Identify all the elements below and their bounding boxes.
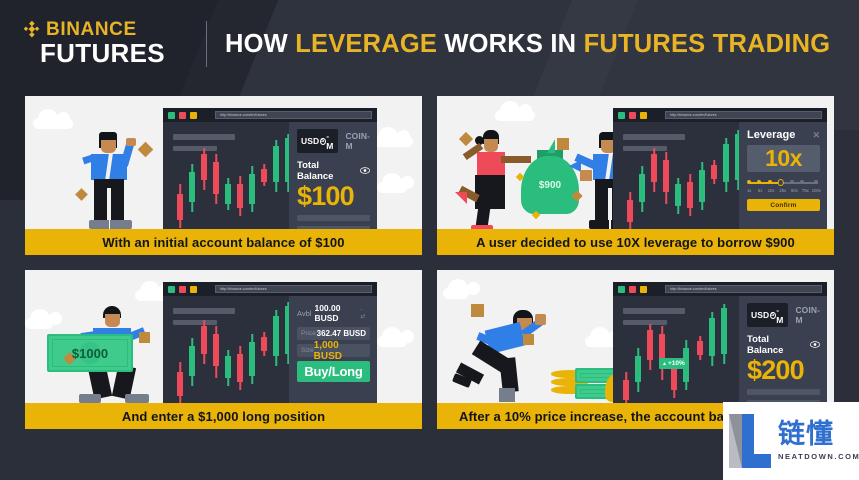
- close-icon[interactable]: ✕: [812, 131, 820, 140]
- slider-tick-label: 50x: [791, 188, 798, 193]
- window-dot-green-icon[interactable]: [168, 286, 175, 293]
- window-dot-green-icon[interactable]: [618, 112, 625, 119]
- margin-mode-tabs: USDS-M COIN-M: [297, 129, 370, 153]
- slider-handle[interactable]: [777, 179, 784, 186]
- transfer-icon[interactable]: - ⇄: [360, 307, 370, 320]
- skeleton-bar: [747, 389, 820, 395]
- window-dot-yellow-icon[interactable]: [190, 112, 197, 119]
- window-dot-red-icon[interactable]: [629, 286, 636, 293]
- margin-mode-tabs: USDS-M COIN-M: [747, 303, 820, 327]
- money-bag-amount: $900: [539, 180, 561, 191]
- tab-usd-m-suffix: -M: [326, 131, 334, 151]
- total-balance-value: $100: [297, 182, 370, 210]
- panel-2: $900: [437, 96, 834, 255]
- confirm-button[interactable]: Confirm: [747, 199, 820, 211]
- leverage-slider[interactable]: [747, 178, 820, 188]
- slider-fill: [749, 182, 781, 184]
- cloud-icon: [33, 118, 73, 129]
- watermark-cn-text: 链懂: [778, 421, 859, 448]
- panel-1-scene: http://binance.com/en/futures: [25, 96, 422, 229]
- leverage-slider-ticks: 1x 5x 10x 25x 50x 75x 100x: [747, 188, 820, 196]
- slider-tick-label: 10x: [768, 188, 775, 193]
- eye-icon[interactable]: [360, 166, 370, 177]
- tab-usd-m[interactable]: USDS-M: [747, 303, 788, 327]
- title-segment-futures-trading: FUTURES TRADING: [584, 30, 831, 58]
- candlestick-chart: ▲+10%: [613, 296, 739, 403]
- title-segment-how: HOW: [225, 30, 295, 58]
- tab-coin-m[interactable]: COIN-M: [795, 305, 820, 325]
- order-form-sidepanel: Avbl 100.00 BUSD - ⇄ Price 362.47 BUSD S…: [289, 296, 377, 403]
- cloud-icon: [495, 110, 535, 121]
- size-value: 1,000 BUSD: [314, 340, 366, 362]
- window-dot-red-icon[interactable]: [629, 112, 636, 119]
- character-illustration: [461, 130, 523, 229]
- price-change-value: +10%: [668, 360, 685, 367]
- panel-2-caption: A user decided to use 10X leverage to bo…: [437, 229, 834, 255]
- panel-3-caption: And enter a $1,000 long position: [25, 403, 422, 429]
- slider-tick-knot[interactable]: [747, 180, 751, 184]
- tab-usd-m-label: USD: [751, 310, 769, 320]
- slider-tick-label: 5x: [758, 188, 762, 193]
- page-title: HOW LEVERAGE WORKS IN FUTURES TRADING: [225, 30, 830, 59]
- browser-body: Leverage ✕ 10x: [613, 122, 827, 229]
- watermark: 链懂 NEATDOWN.COM: [723, 402, 859, 480]
- browser-titlebar: http://binance.com/en/futures: [613, 282, 827, 296]
- title-segment-leverage: LEVERAGE: [295, 30, 437, 58]
- window-dot-red-icon[interactable]: [179, 112, 186, 119]
- brand-lockup: BINANCE FUTURES: [22, 20, 198, 67]
- binance-diamond-icon: [22, 20, 41, 39]
- browser-titlebar: http://binance.com/en/futures: [163, 282, 377, 296]
- panel-3: $1000 http://binance.com/en/futures: [25, 270, 422, 429]
- header: BINANCE FUTURES HOW LEVERAGE WORKS IN FU…: [0, 0, 859, 88]
- url-bar[interactable]: http://binance.com/en/futures: [215, 111, 372, 119]
- slider-tick-label: 25x: [779, 188, 786, 193]
- total-balance-label-row: Total Balance: [297, 160, 370, 182]
- browser-window: http://binance.com/en/futures: [163, 282, 377, 403]
- url-bar[interactable]: http://binance.com/en/futures: [215, 285, 372, 293]
- panel-1: http://binance.com/en/futures: [25, 96, 422, 255]
- square-accent-icon: [523, 334, 534, 345]
- cloud-icon: [25, 318, 53, 329]
- window-dot-green-icon[interactable]: [168, 112, 175, 119]
- available-label: Avbl: [297, 309, 311, 318]
- browser-titlebar: http://binance.com/en/futures: [163, 108, 377, 122]
- slider-tick-label: 100x: [812, 188, 821, 193]
- buy-long-button[interactable]: Buy/Long: [297, 361, 370, 382]
- total-balance-value: $200: [747, 356, 820, 384]
- slider-tick-label: 75x: [802, 188, 809, 193]
- cloud-icon: [443, 288, 469, 299]
- available-balance-row: Avbl 100.00 BUSD - ⇄: [297, 303, 370, 323]
- window-dot-yellow-icon[interactable]: [640, 112, 647, 119]
- balance-sidepanel: USDS-M COIN-M Total Balance $200: [739, 296, 827, 403]
- neatdown-l-icon: [729, 414, 771, 468]
- infographic-canvas: BINANCE FUTURES HOW LEVERAGE WORKS IN FU…: [0, 0, 859, 480]
- window-dot-red-icon[interactable]: [179, 286, 186, 293]
- square-accent-icon: [557, 138, 569, 150]
- slider-tick-knot[interactable]: [800, 180, 804, 184]
- slider-tick-knot[interactable]: [790, 180, 794, 184]
- skeleton-bar: [297, 215, 370, 221]
- money-bag-icon: $900: [521, 146, 579, 214]
- url-bar[interactable]: http://binance.com/en/futures: [665, 111, 822, 119]
- window-dot-yellow-icon[interactable]: [190, 286, 197, 293]
- browser-titlebar: http://binance.com/en/futures: [613, 108, 827, 122]
- total-balance-label: Total Balance: [747, 334, 806, 356]
- browser-window: http://binance.com/en/futures: [613, 282, 827, 403]
- price-change-badge: ▲+10%: [659, 358, 688, 369]
- browser-window: http://binance.com/en/futures: [613, 108, 827, 229]
- character-illustration: [77, 130, 147, 229]
- cloud-icon: [373, 136, 413, 147]
- candlestick-chart: [163, 122, 289, 229]
- cloud-icon: [377, 336, 407, 347]
- price-field[interactable]: Price 362.47 BUSD: [297, 327, 370, 340]
- candlestick-chart: [613, 122, 739, 229]
- character-illustration: [455, 306, 547, 403]
- s-circle-icon: S: [320, 138, 326, 145]
- leverage-header: Leverage ✕: [747, 129, 820, 141]
- tab-usd-m[interactable]: USDS-M: [297, 129, 338, 153]
- browser-window: http://binance.com/en/futures: [163, 108, 377, 229]
- panel-grid: http://binance.com/en/futures: [25, 96, 834, 454]
- panel-4-scene: $ http://binance.com/en/futures: [437, 270, 834, 403]
- cloud-icon: [377, 182, 407, 193]
- price-value: 362.47 BUSD: [317, 329, 366, 338]
- banknote-amount: $1000: [72, 346, 108, 361]
- brand-futures-text: FUTURES: [40, 40, 198, 67]
- panel-3-scene: $1000 http://binance.com/en/futures: [25, 270, 422, 403]
- panel-2-scene: $900: [437, 96, 834, 229]
- browser-body: ▲+10% USDS-M COIN-M Total Balance: [613, 296, 827, 403]
- total-balance-label: Total Balance: [297, 160, 356, 182]
- url-bar[interactable]: http://binance.com/en/futures: [665, 285, 822, 293]
- total-balance-label-row: Total Balance: [747, 334, 820, 356]
- balance-sidepanel: USDS-M COIN-M Total Balance $100: [289, 122, 377, 229]
- window-dot-green-icon[interactable]: [618, 286, 625, 293]
- candlestick-chart: [163, 296, 289, 403]
- panel-1-caption: With an initial account balance of $100: [25, 229, 422, 255]
- watermark-en-text: NEATDOWN.COM: [778, 452, 859, 461]
- eye-icon[interactable]: [810, 340, 820, 351]
- slider-tick-knot[interactable]: [814, 180, 818, 184]
- tab-coin-m[interactable]: COIN-M: [345, 131, 370, 151]
- slider-tick-knot[interactable]: [768, 180, 772, 184]
- skeleton-bar: [297, 226, 370, 229]
- header-divider: [206, 21, 207, 67]
- banknote-icon: $1000: [47, 334, 133, 372]
- tab-usd-m-label: USD: [301, 136, 319, 146]
- browser-body: USDS-M COIN-M Total Balance $100: [163, 122, 377, 229]
- slider-tick-label: 1x: [747, 188, 751, 193]
- s-circle-icon: S: [770, 312, 776, 319]
- browser-body: Avbl 100.00 BUSD - ⇄ Price 362.47 BUSD S…: [163, 296, 377, 403]
- size-label: Size: [301, 347, 314, 354]
- square-accent-icon: [139, 332, 150, 343]
- watermark-text: 链懂 NEATDOWN.COM: [778, 421, 859, 461]
- available-value: 100.00 BUSD: [314, 303, 357, 323]
- square-accent-icon: [471, 304, 484, 317]
- brand-binance-text: BINANCE: [46, 20, 137, 39]
- tab-usd-m-suffix: -M: [776, 305, 784, 325]
- window-dot-yellow-icon[interactable]: [640, 286, 647, 293]
- leverage-value[interactable]: 10x: [747, 145, 820, 172]
- leverage-sidepanel: Leverage ✕ 10x: [739, 122, 827, 229]
- slider-tick-knot[interactable]: [757, 180, 761, 184]
- size-field[interactable]: Size 1,000 BUSD: [297, 344, 370, 357]
- price-label: Price: [301, 330, 316, 337]
- leverage-title: Leverage: [747, 129, 795, 141]
- title-segment-works-in: WORKS IN: [437, 30, 584, 58]
